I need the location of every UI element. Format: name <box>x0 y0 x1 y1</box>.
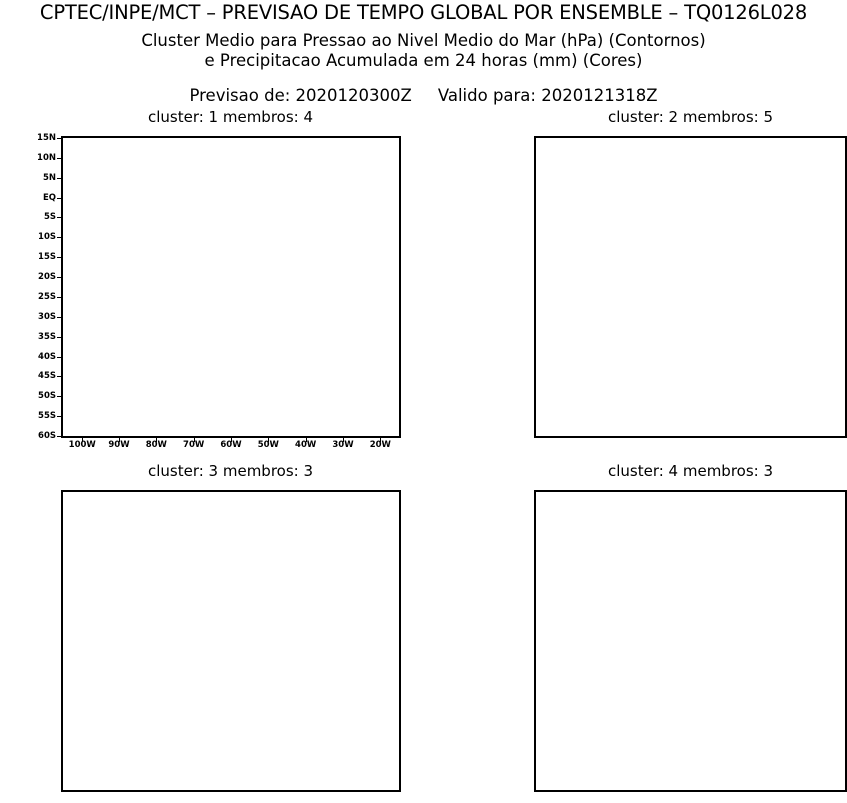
y-axis-tick <box>57 436 61 437</box>
y-axis-tick-label: 15S <box>30 252 56 262</box>
panel-title-cluster-2: cluster: 2 membros: 5 <box>534 108 847 126</box>
y-axis-tick-label: 10N <box>30 153 56 163</box>
y-axis-tick-label: 10S <box>30 232 56 242</box>
map-panel-cluster-2[interactable] <box>534 136 847 438</box>
map-panel-cluster-1[interactable] <box>61 136 401 438</box>
y-axis-tick <box>57 376 61 377</box>
y-axis-tick <box>57 257 61 258</box>
forecast-from-label: Previsao de: <box>189 86 290 105</box>
y-axis-tick <box>57 297 61 298</box>
colorbar[interactable] <box>420 132 454 442</box>
y-axis-tick-label: 35S <box>30 332 56 342</box>
y-axis-tick <box>57 396 61 397</box>
y-axis-tick-label: 60S <box>30 431 56 441</box>
y-axis-tick <box>57 178 61 179</box>
valid-for-value: 2020121318Z <box>541 86 657 105</box>
y-axis-tick-label: 25S <box>30 292 56 302</box>
y-axis-tick-label: 30S <box>30 312 56 322</box>
panel-title-cluster-1: cluster: 1 membros: 4 <box>61 108 400 126</box>
forecast-from-value: 2020120300Z <box>296 86 412 105</box>
y-axis-tick-label: EQ <box>30 193 56 203</box>
y-axis-tick <box>57 277 61 278</box>
y-axis-tick-label: 45S <box>30 371 56 381</box>
y-axis-tick <box>57 138 61 139</box>
y-axis-tick <box>57 416 61 417</box>
y-axis-tick-label: 5S <box>30 212 56 222</box>
page-title: CPTEC/INPE/MCT – PREVISAO DE TEMPO GLOBA… <box>0 1 847 24</box>
x-axis-tick <box>119 438 120 442</box>
x-axis-tick <box>156 438 157 442</box>
y-axis-tick-label: 40S <box>30 352 56 362</box>
y-axis-tick-label: 5N <box>30 173 56 183</box>
y-axis-tick <box>57 317 61 318</box>
map-panel-cluster-4[interactable] <box>534 490 847 792</box>
x-axis-tick <box>82 438 83 442</box>
valid-for-label: Valido para: <box>438 86 536 105</box>
x-axis-tick <box>380 438 381 442</box>
y-axis-tick <box>57 357 61 358</box>
subtitle-line-1: Cluster Medio para Pressao ao Nivel Medi… <box>0 31 847 50</box>
y-axis-tick-label: 15N <box>30 133 56 143</box>
map-panel-cluster-3[interactable] <box>61 490 401 792</box>
forecast-info-line: Previsao de: 2020120300ZValido para: 202… <box>0 86 847 105</box>
x-axis-tick <box>194 438 195 442</box>
y-axis-tick-label: 20S <box>30 272 56 282</box>
y-axis-tick <box>57 158 61 159</box>
y-axis-tick <box>57 217 61 218</box>
panel-title-cluster-4: cluster: 4 membros: 3 <box>534 462 847 480</box>
y-axis-tick-label: 50S <box>30 391 56 401</box>
x-axis-tick <box>231 438 232 442</box>
y-axis-tick <box>57 237 61 238</box>
y-axis-tick <box>57 198 61 199</box>
x-axis-tick <box>306 438 307 442</box>
y-axis-tick <box>57 337 61 338</box>
y-axis-tick-label: 55S <box>30 411 56 421</box>
subtitle-line-2: e Precipitacao Acumulada em 24 horas (mm… <box>0 51 847 70</box>
panel-title-cluster-3: cluster: 3 membros: 3 <box>61 462 400 480</box>
x-axis-tick <box>268 438 269 442</box>
x-axis-tick <box>343 438 344 442</box>
